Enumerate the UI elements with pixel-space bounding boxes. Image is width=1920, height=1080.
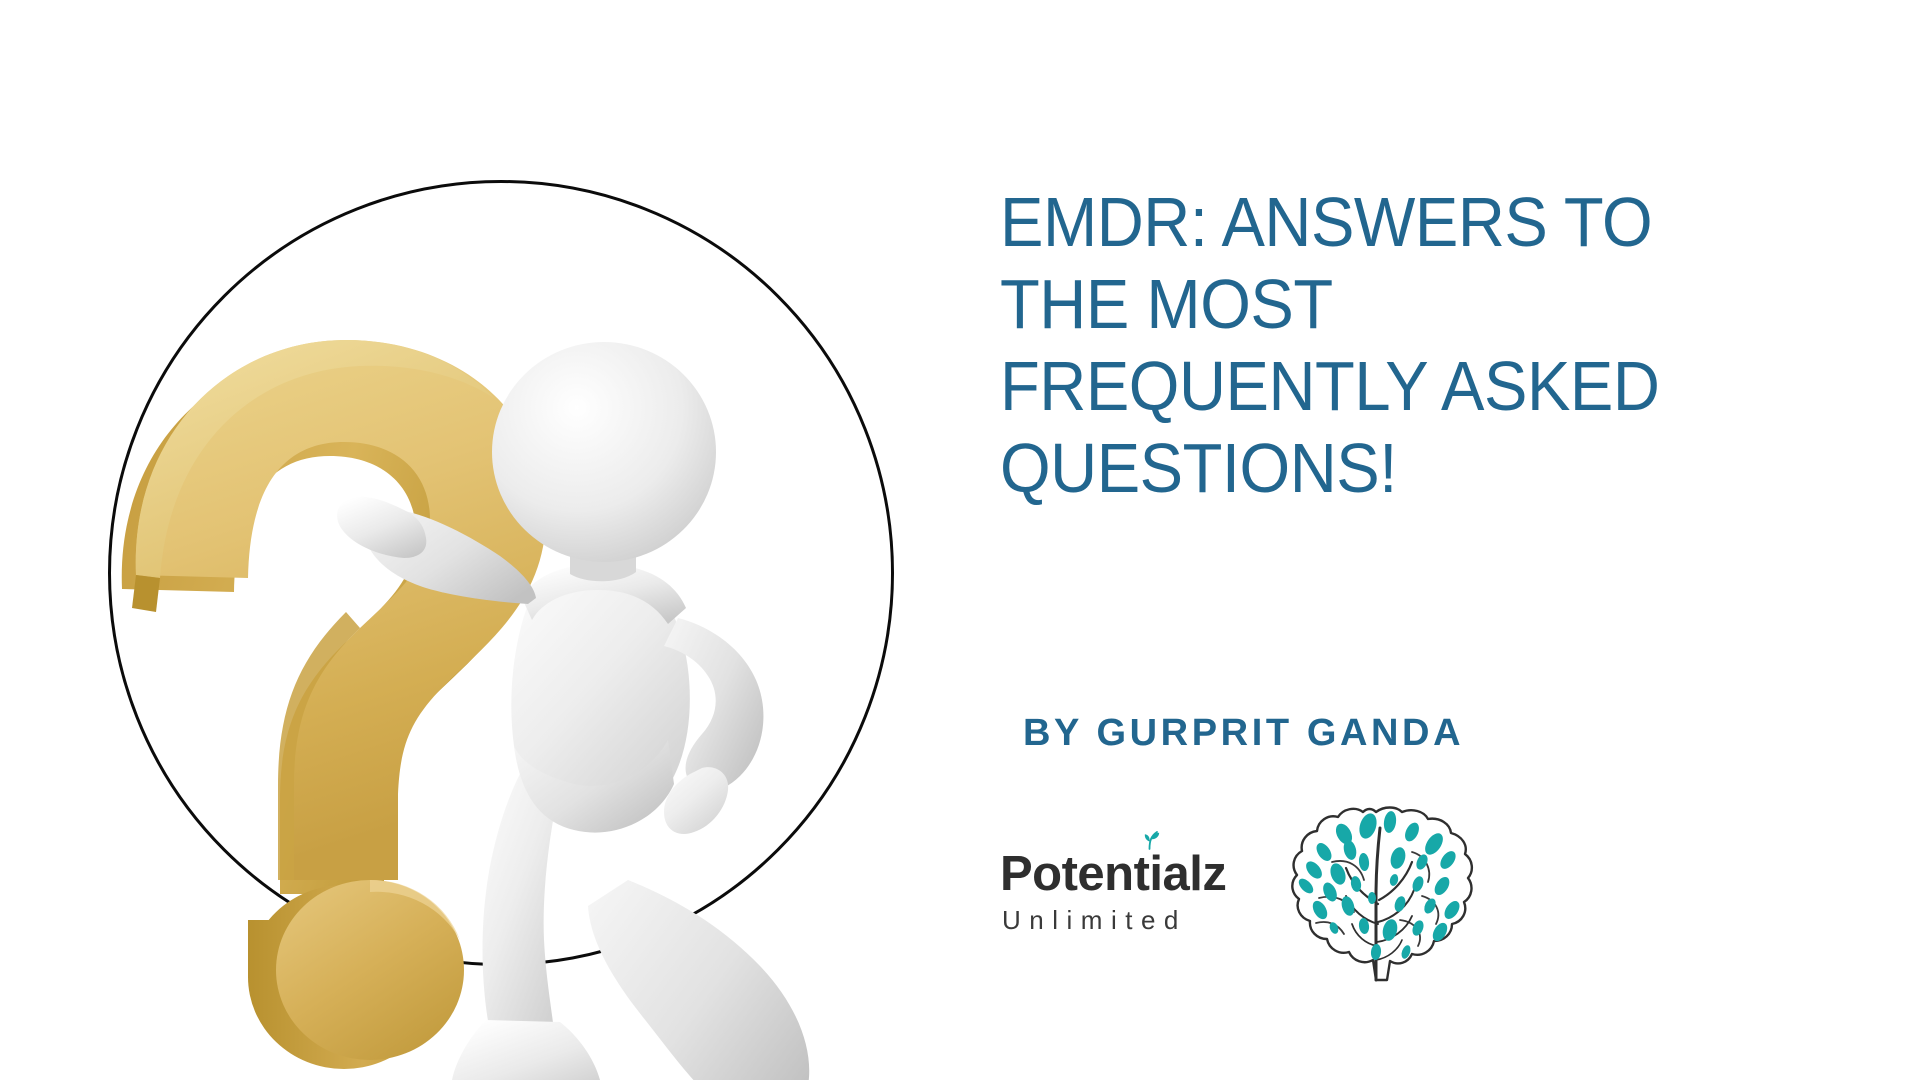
brand-name: Potentialz <box>1000 850 1270 899</box>
brand-tagline: Unlimited <box>1002 907 1270 933</box>
illustration <box>108 180 894 966</box>
illustration-artwork <box>108 180 894 966</box>
sprout-leaf-icon <box>1136 828 1164 850</box>
page-title: EMDR: ANSWERS TO THE MOST FREQUENTLY ASK… <box>1000 182 1772 510</box>
slide-canvas: EMDR: ANSWERS TO THE MOST FREQUENTLY ASK… <box>0 0 1920 1080</box>
brand-logo-text: Potentialz Unlimited <box>1000 850 1270 933</box>
text-column: EMDR: ANSWERS TO THE MOST FREQUENTLY ASK… <box>1000 0 1860 1080</box>
question-mark-icon <box>122 340 546 1069</box>
brain-tree-icon <box>1272 800 1477 990</box>
brand-name-label: Potentialz <box>1000 847 1226 901</box>
author-byline: BY GURPRIT GANDA <box>1023 712 1464 755</box>
brand-logo: Potentialz Unlimited <box>1000 800 1500 990</box>
